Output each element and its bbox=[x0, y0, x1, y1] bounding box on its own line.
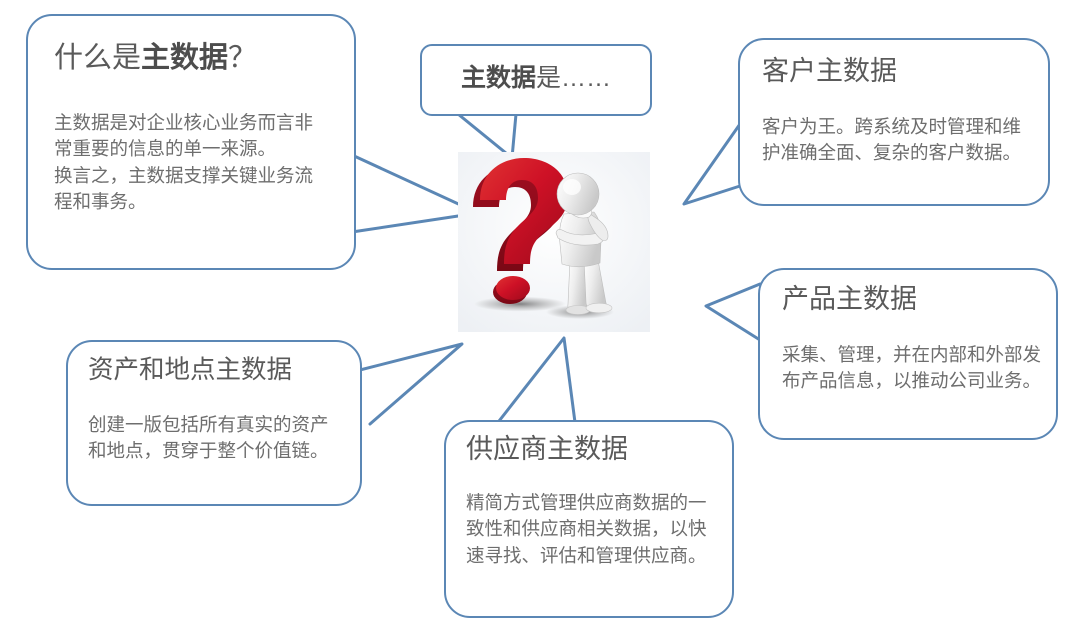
figure-head bbox=[557, 173, 599, 215]
tail-customer-master-data bbox=[684, 124, 740, 204]
bubble-body-product-master-data: 采集、管理，并在内部和外部发布产品信息，以推动公司业务。 bbox=[782, 342, 1044, 395]
tail-supplier-master-data bbox=[492, 338, 576, 430]
question-mark-dot bbox=[496, 276, 530, 300]
title-prefix: 什么是 bbox=[54, 42, 141, 74]
bubble-customer-master-data[interactable]: 客户主数据 客户为王。跨系统及时管理和维护准确全面、复杂的客户数据。 bbox=[738, 38, 1050, 206]
bubble-title-master-data-is: 主数据是…… bbox=[422, 64, 650, 93]
title-bold: 主数据 bbox=[461, 64, 536, 92]
bubble-title-supplier-master-data: 供应商主数据 bbox=[466, 434, 628, 465]
bubble-body-supplier-master-data: 精简方式管理供应商数据的一致性和供应商相关数据，以快速寻找、评估和管理供应商。 bbox=[466, 490, 722, 569]
bubble-product-master-data[interactable]: 产品主数据 采集、管理，并在内部和外部发布产品信息，以推动公司业务。 bbox=[758, 268, 1058, 440]
diagram-canvas: 什么是主数据？ 主数据是对企业核心业务而言非常重要的信息的单一来源。 换言之，主… bbox=[0, 0, 1080, 624]
bubble-supplier-master-data[interactable]: 供应商主数据 精简方式管理供应商数据的一致性和供应商相关数据，以快速寻找、评估和… bbox=[444, 420, 734, 618]
figure-foot-front bbox=[586, 303, 612, 313]
bubble-body-what-is-master-data: 主数据是对企业核心业务而言非常重要的信息的单一来源。 换言之，主数据支撑关键业务… bbox=[54, 110, 322, 215]
bubble-title-what-is-master-data: 什么是主数据？ bbox=[54, 42, 257, 75]
bubble-body-asset-location-master-data: 创建一版包括所有真实的资产和地点，贯穿于整个价值链。 bbox=[88, 412, 346, 465]
tail-product-master-data bbox=[706, 284, 760, 340]
bubble-master-data-is[interactable]: 主数据是…… bbox=[420, 44, 652, 116]
bubble-title-asset-location-master-data: 资产和地点主数据 bbox=[88, 356, 292, 385]
bubble-body-customer-master-data: 客户为王。跨系统及时管理和维护准确全面、复杂的客户数据。 bbox=[762, 114, 1032, 167]
bubble-asset-location-master-data[interactable]: 资产和地点主数据 创建一版包括所有真实的资产和地点，贯穿于整个价值链。 bbox=[66, 340, 362, 506]
figure-head-highlight bbox=[563, 179, 581, 195]
bubble-title-product-master-data: 产品主数据 bbox=[782, 284, 917, 315]
title-bold: 主数据 bbox=[141, 42, 228, 74]
bubble-what-is-master-data[interactable]: 什么是主数据？ 主数据是对企业核心业务而言非常重要的信息的单一来源。 换言之，主… bbox=[26, 14, 356, 270]
question-mark-thinking-person-image bbox=[458, 152, 650, 332]
tail-asset-location-master-data bbox=[352, 344, 462, 424]
bubble-title-customer-master-data: 客户主数据 bbox=[762, 56, 897, 87]
title-suffix: ？ bbox=[228, 42, 257, 74]
title-suffix: 是…… bbox=[536, 64, 611, 92]
